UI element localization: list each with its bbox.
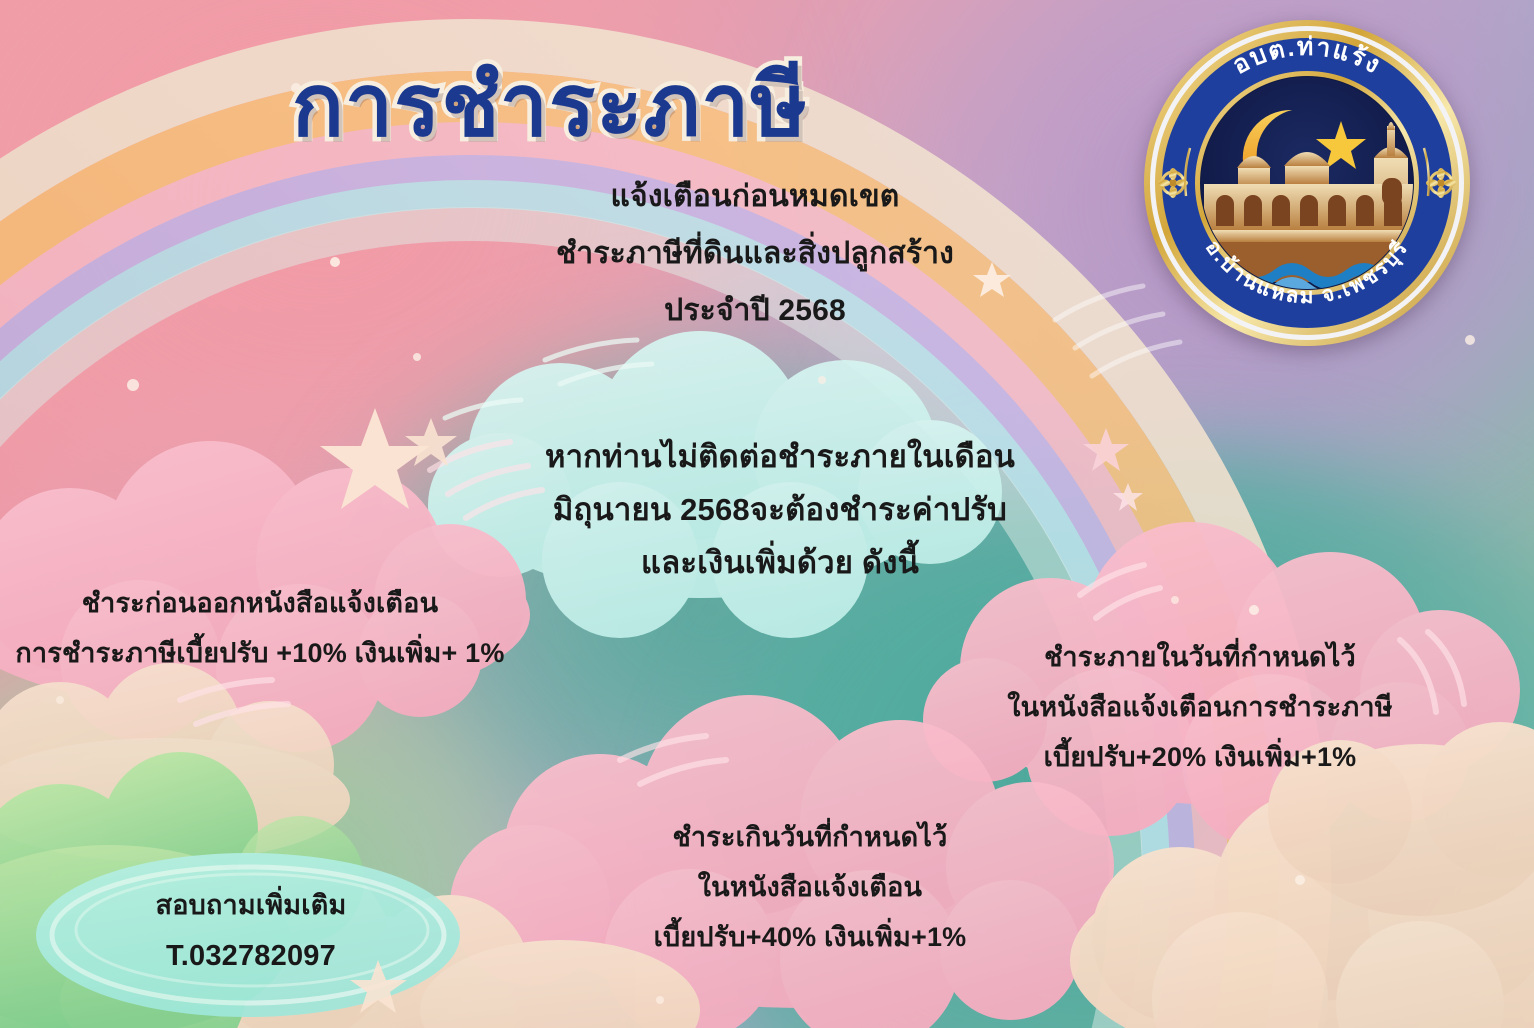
header-notice-line-2: ชำระภาษีที่ดินและสิ่งปลูกสร้าง <box>445 225 1065 282</box>
contact-phone[interactable]: T.032782097 <box>56 930 446 982</box>
municipality-logo: อบต.ท่าแร้ง อ.บ้านแหลม จ.เพชรบุรี <box>1142 18 1472 348</box>
case1-line-1: ชำระก่อนออกหนังสือแจ้งเตือน <box>0 578 520 628</box>
case1-line-2: การชำระภาษีเบี้ยปรับ +10% เงินเพิ่ม+ 1% <box>0 628 520 678</box>
center-notice-line-1: หากท่านไม่ติดต่อชำระภายในเดือน <box>470 430 1090 483</box>
case2-line-1: ชำระภายในวันที่กำหนดไว้ <box>1000 632 1400 682</box>
page-title: การชำระภาษี <box>292 36 808 173</box>
penalty-case-overdue: ชำระเกินวันที่กำหนดไว้ ในหนังสือแจ้งเตือ… <box>610 812 1010 962</box>
contact-block: สอบถามเพิ่มเติม T.032782097 <box>56 880 446 982</box>
case3-line-1: ชำระเกินวันที่กำหนดไว้ <box>610 812 1010 862</box>
case2-line-2: ในหนังสือแจ้งเตือนการชำระภาษี <box>1000 682 1400 732</box>
case3-line-2: ในหนังสือแจ้งเตือน <box>610 862 1010 912</box>
penalty-case-within-due-date: ชำระภายในวันที่กำหนดไว้ ในหนังสือแจ้งเตื… <box>1000 632 1400 782</box>
header-notice-line-1: แจ้งเตือนก่อนหมดเขต <box>445 168 1065 225</box>
header-notice-block: แจ้งเตือนก่อนหมดเขต ชำระภาษีที่ดินและสิ่… <box>445 168 1065 339</box>
header-notice-line-3: ประจำปี 2568 <box>445 282 1065 339</box>
center-notice-line-3: และเงินเพิ่มด้วย ดังนี้ <box>470 536 1090 589</box>
tax-payment-poster: การชำระภาษี <box>0 0 1534 1028</box>
cloud-cream-left <box>0 663 350 862</box>
center-notice-block: หากท่านไม่ติดต่อชำระภายในเดือน มิถุนายน … <box>470 430 1090 589</box>
poster-title-wrap: การชำระภาษี <box>0 36 1100 173</box>
center-notice-line-2: มิถุนายน 2568จะต้องชำระค่าปรับ <box>470 483 1090 536</box>
contact-label: สอบถามเพิ่มเติม <box>56 880 446 930</box>
swoosh-decorations-mint <box>445 340 652 418</box>
penalty-case-before-notice: ชำระก่อนออกหนังสือแจ้งเตือน การชำระภาษีเ… <box>0 578 520 678</box>
case2-line-3: เบี้ยปรับ+20% เงินเพิ่ม+1% <box>1000 732 1400 782</box>
case3-line-3: เบี้ยปรับ+40% เงินเพิ่ม+1% <box>610 912 1010 962</box>
